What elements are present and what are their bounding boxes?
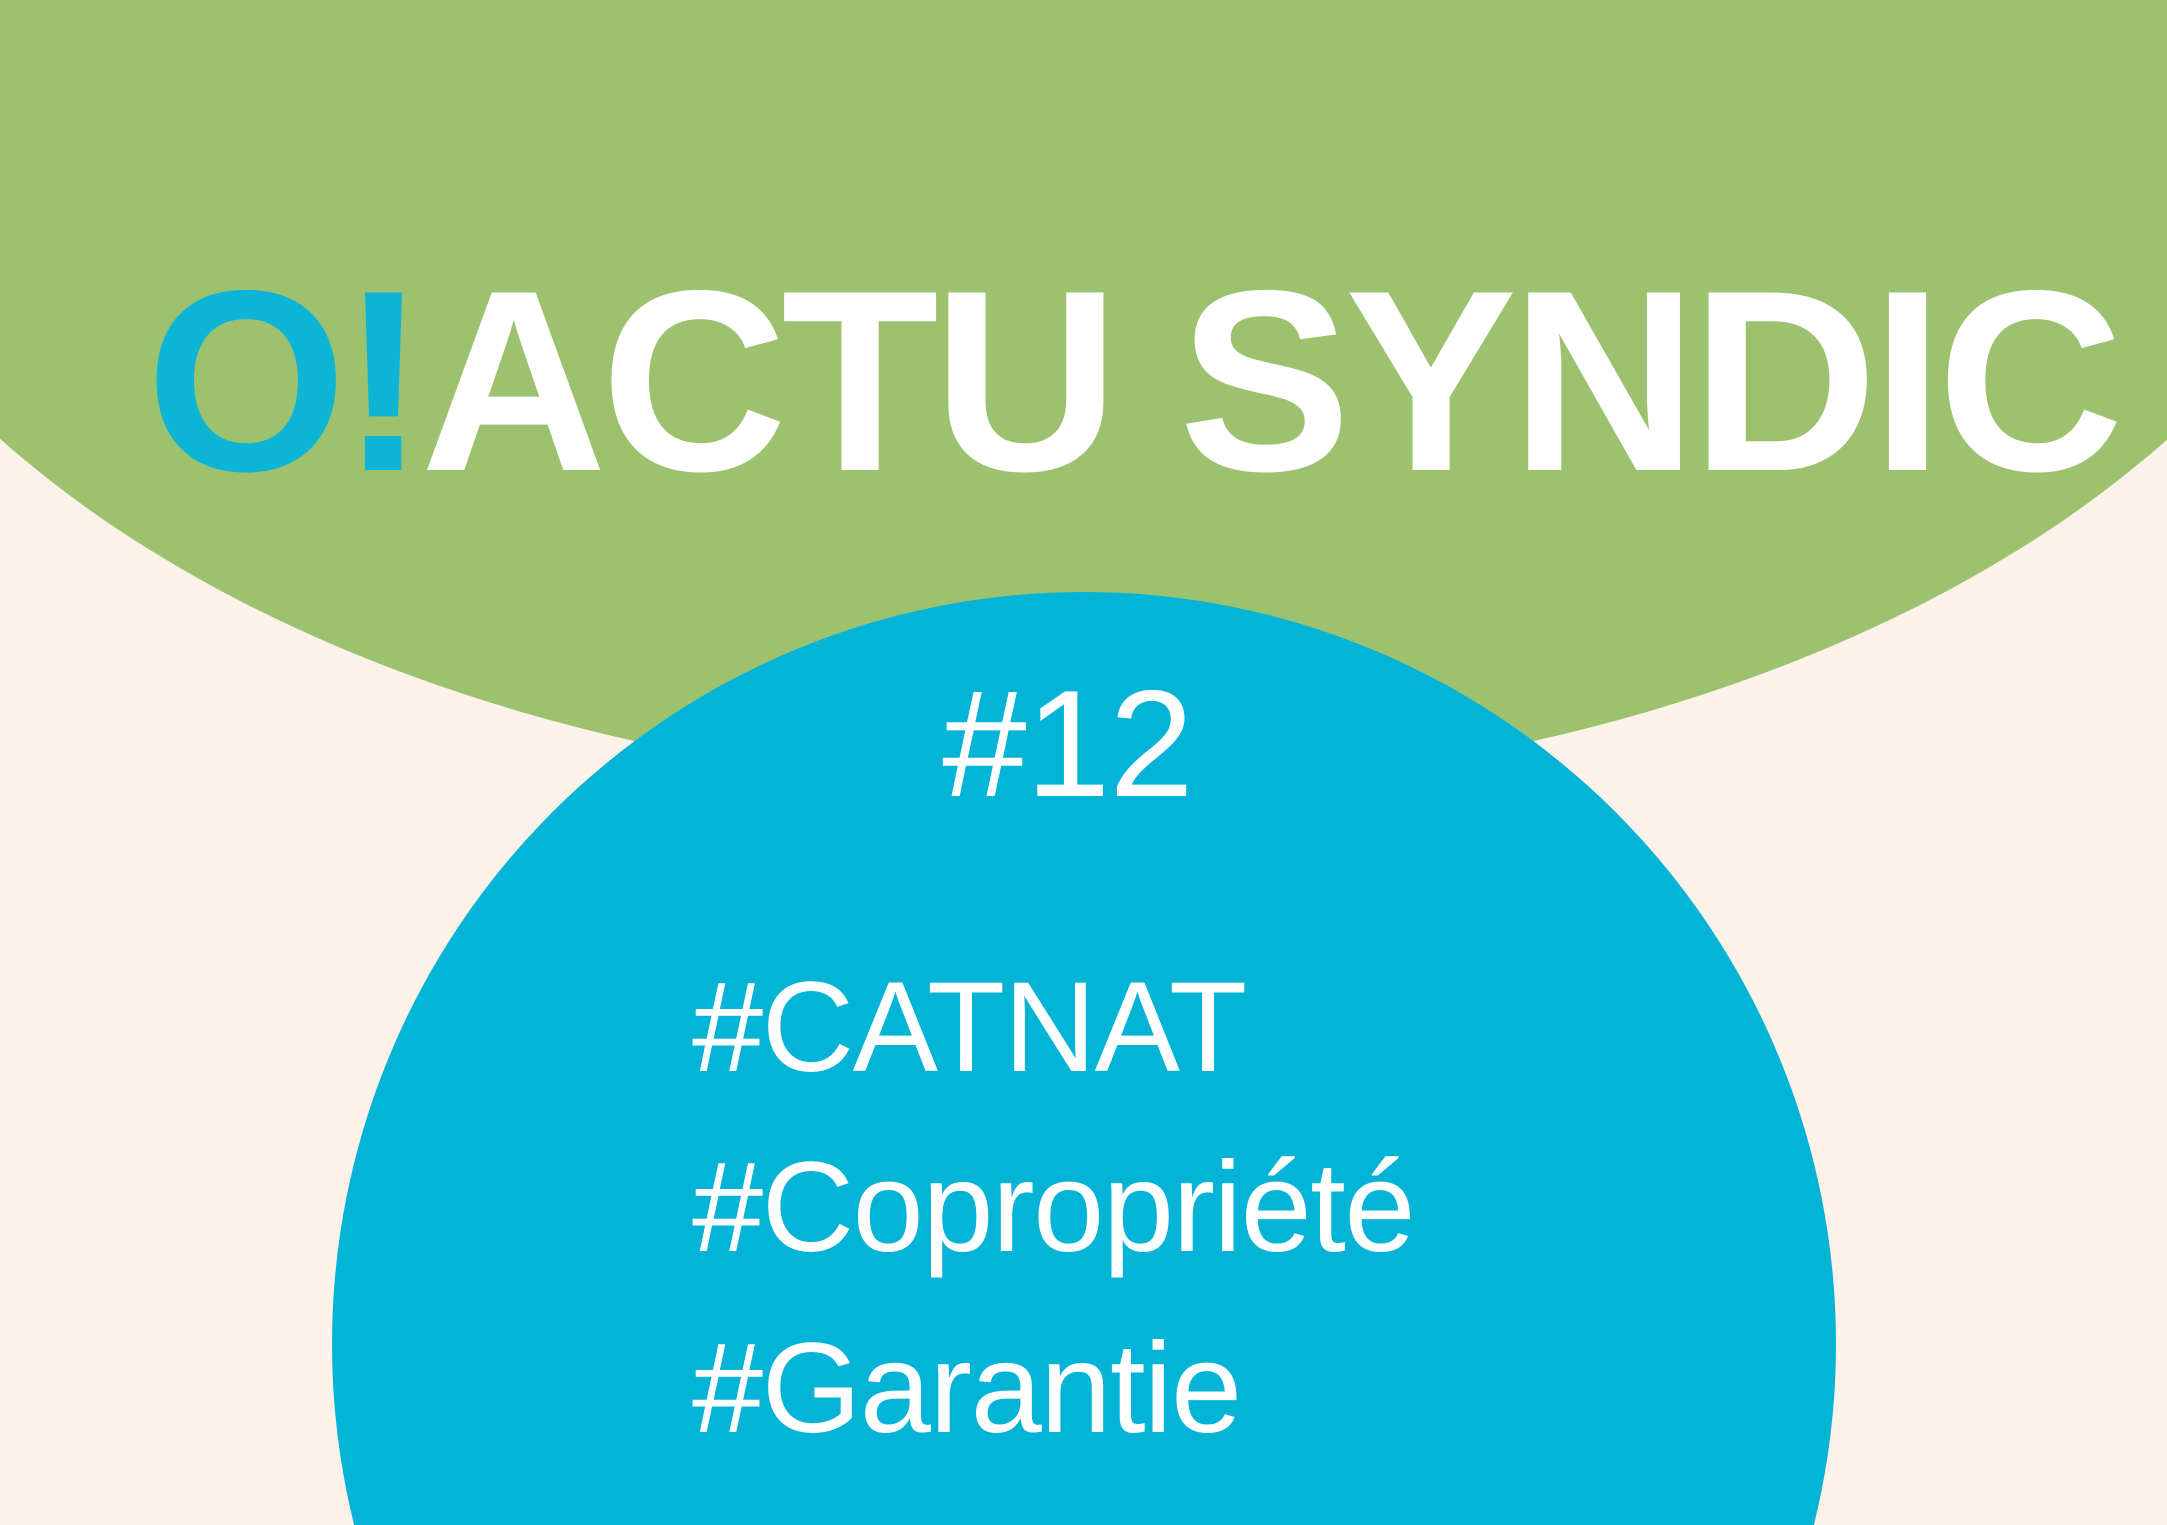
hashtag-list: #CATNAT #Copropriété #Garantie <box>692 938 1692 1479</box>
poster-canvas: O!ACTU SYNDIC #12 #CATNAT #Copropriété #… <box>0 0 2167 1525</box>
brand-main-text: ACTU SYNDIC <box>421 236 2118 525</box>
hashtag-item-copropriete: #Copropriété <box>692 1118 1692 1298</box>
page-title: O!ACTU SYNDIC <box>146 252 2118 510</box>
issue-number-badge: #12 <box>0 668 2151 820</box>
hashtag-item-garantie: #Garantie <box>692 1299 1692 1479</box>
hashtag-item-catnat: #CATNAT <box>692 938 1692 1118</box>
brand-accent-text: O! <box>146 236 421 525</box>
